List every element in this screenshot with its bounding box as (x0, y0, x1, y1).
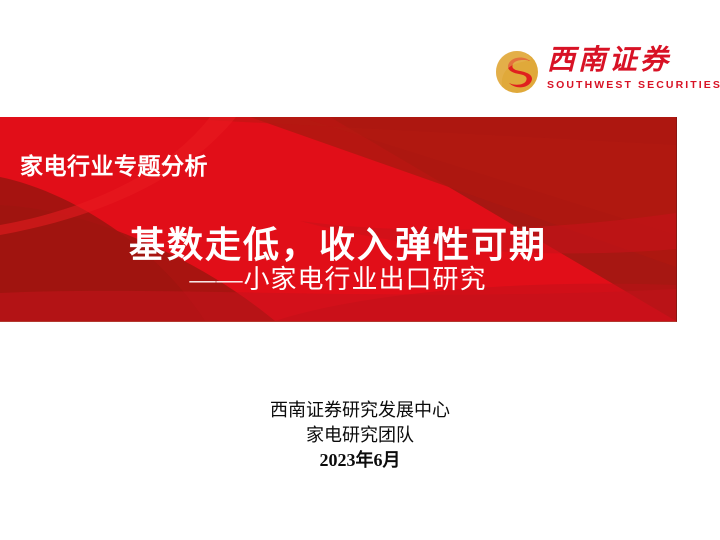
title-slide: 西南证券 SOUTHWEST SECURITIES 家电行业专题分析 (0, 0, 720, 540)
company-logo: 西南证券 SOUTHWEST SECURITIES (495, 44, 695, 100)
banner-kicker: 家电行业专题分析 (20, 147, 208, 181)
banner-text-group: 家电行业专题分析 基数走低，收入弹性可期 ——小家电行业出口研究 (0, 117, 676, 321)
southwest-securities-emblem-icon (495, 50, 539, 94)
logo-wordmark: 西南证券 SOUTHWEST SECURITIES (547, 44, 695, 100)
title-banner: 家电行业专题分析 基数走低，收入弹性可期 ——小家电行业出口研究 (0, 117, 677, 322)
logo-chinese-name: 西南证券 (547, 44, 695, 78)
banner-sub-title: ——小家电行业出口研究 (0, 259, 676, 296)
footer-date: 2023年6月 (0, 448, 720, 473)
footer-team: 家电研究团队 (0, 423, 720, 448)
slide-footer: 西南证券研究发展中心 家电研究团队 2023年6月 (0, 398, 720, 473)
footer-organization: 西南证券研究发展中心 (0, 398, 720, 423)
logo-english-name: SOUTHWEST SECURITIES (547, 78, 695, 92)
